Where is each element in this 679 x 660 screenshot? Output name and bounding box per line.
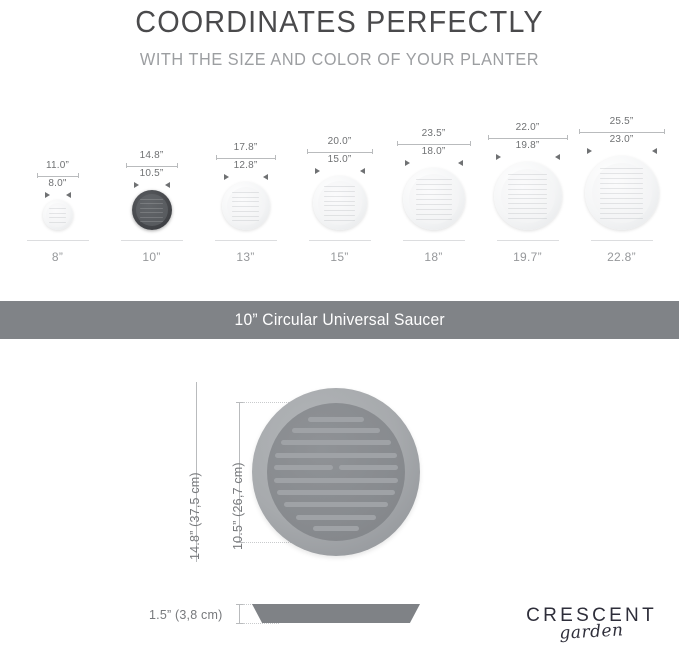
header: COORDINATES PERFECTLY WITH THE SIZE AND … (0, 0, 679, 70)
saucer-thumbnail (585, 156, 659, 230)
saucer-slat (416, 189, 452, 190)
saucer-slat (232, 206, 259, 207)
inner-dimension-arrows (496, 153, 560, 160)
outer-dimension-label: 17.8” (234, 142, 258, 153)
outer-dimension-line (397, 141, 471, 146)
product-banner-title: 10” Circular Universal Saucer (234, 311, 444, 330)
size-option-15[interactable]: 20.0”15.0”15” (293, 104, 387, 264)
saucer-slat (600, 208, 643, 209)
outer-height-label: 14.8” (37,5 cm) (188, 472, 202, 560)
page-subtitle: WITH THE SIZE AND COLOR OF YOUR PLANTER (24, 49, 655, 70)
saucer-well (46, 203, 70, 227)
size-option-19.7[interactable]: 22.0”19.8”19.7” (481, 104, 575, 264)
saucer-slat (416, 194, 452, 195)
inner-dimension-arrows (315, 167, 365, 174)
saucer-slat (508, 174, 547, 175)
inner-dimension-arrows (405, 159, 463, 166)
size-divider (309, 240, 371, 241)
arrow-right-icon (134, 182, 139, 188)
saucer-well (267, 403, 405, 541)
saucer-slat (416, 179, 452, 180)
arrow-left-icon (652, 148, 657, 154)
inner-dimension: 10.5” (105, 168, 199, 188)
inner-dimension: 23.0” (575, 134, 669, 154)
inner-dimension: 8.0" (11, 178, 105, 198)
saucer-slat (274, 465, 333, 470)
arrow-right-icon (405, 160, 410, 166)
saucer-slat (308, 417, 364, 422)
saucer-slat (232, 220, 259, 221)
arrow-left-icon (165, 182, 170, 188)
saucer-thumbnail (494, 162, 562, 230)
size-option-18[interactable]: 23.5”18.0”18” (387, 104, 481, 264)
saucer-well (501, 169, 555, 223)
saucer-thumbnail (313, 176, 367, 230)
saucer-slat (508, 179, 547, 180)
saucer-slat (140, 221, 163, 222)
outer-dimension-line (37, 173, 79, 178)
size-label: 13” (236, 250, 254, 264)
saucer-slat (600, 183, 643, 184)
size-divider (403, 240, 465, 241)
profile-height-label: 1.5” (3,8 cm) (149, 608, 222, 622)
inner-dimension-arrows (134, 181, 170, 188)
saucer-slat (508, 208, 547, 209)
product-spec-sheet: COORDINATES PERFECTLY WITH THE SIZE AND … (0, 0, 679, 660)
size-option-22.8[interactable]: 25.5”23.0”22.8” (575, 104, 669, 264)
outer-dimension: 14.8” (105, 150, 199, 168)
saucer-slat (416, 209, 452, 210)
inner-dimension-arrows (587, 147, 657, 154)
saucer-slat (324, 210, 356, 211)
arrow-left-icon (360, 168, 365, 174)
size-option-10[interactable]: 14.8”10.5”10” (105, 104, 199, 264)
saucer-slat (600, 173, 643, 174)
outer-dimension: 20.0” (293, 136, 387, 154)
outer-dimension-line (307, 149, 373, 154)
saucer-slat (284, 502, 388, 507)
inner-height-cap-top (236, 402, 243, 403)
saucer-slat (49, 213, 66, 214)
outer-dimension-line (216, 155, 276, 160)
saucer-thumbnail (132, 190, 172, 230)
saucer-well (136, 194, 168, 226)
size-label: 18” (424, 250, 442, 264)
size-option-13[interactable]: 17.8”12.8”13” (199, 104, 293, 264)
inner-dimension: 15.0” (293, 154, 387, 174)
saucer-well (227, 187, 265, 225)
size-divider (121, 240, 183, 241)
saucer-well (592, 163, 652, 223)
saucer-slat (140, 217, 163, 218)
saucer-slat (324, 191, 356, 192)
outer-dimension: 23.5” (387, 128, 481, 146)
size-label-group: 19.7” (481, 240, 575, 264)
saucer-side-profile (252, 604, 420, 623)
outer-dimension-label: 22.0” (516, 122, 540, 133)
inner-dimension-label: 10.5” (140, 168, 164, 179)
saucer-slat (324, 220, 356, 221)
arrow-left-icon (555, 154, 560, 160)
arrow-right-icon (496, 154, 501, 160)
outer-dimension-line (126, 163, 178, 168)
saucer-slat (508, 213, 547, 214)
outer-dimension: 25.5” (575, 116, 669, 134)
outer-dimension-label: 14.8” (140, 150, 164, 161)
outer-dimension-label: 25.5” (610, 116, 634, 127)
inner-dimension-label: 23.0” (610, 134, 634, 145)
size-label-group: 13” (199, 240, 293, 264)
arrow-left-icon (263, 174, 268, 180)
size-divider (591, 240, 653, 241)
saucer-slat (324, 201, 356, 202)
product-banner: 10” Circular Universal Saucer (0, 301, 679, 339)
saucer-slat (600, 213, 643, 214)
page-title: COORDINATES PERFECTLY (24, 4, 655, 40)
saucer-slat (416, 214, 452, 215)
brand-logo: CRESCENT garden (526, 605, 657, 642)
saucer-slat (313, 526, 359, 531)
arrow-left-icon (66, 192, 71, 198)
saucer-slat (416, 184, 452, 185)
inner-dimension-label: 8.0" (48, 178, 66, 189)
saucer-slat (508, 189, 547, 190)
outer-dimension: 11.0” (11, 160, 105, 178)
size-label: 22.8” (607, 250, 636, 264)
saucer-slat (339, 465, 398, 470)
saucer-slat (49, 208, 66, 209)
profile-leader-bottom (243, 623, 279, 624)
inner-dimension: 18.0” (387, 146, 481, 166)
saucer-slat (324, 205, 356, 206)
saucer-slat (49, 217, 66, 218)
size-label-group: 22.8” (575, 240, 669, 264)
saucer-slat (274, 478, 398, 483)
inner-dimension: 19.8” (481, 140, 575, 160)
saucer-slat (600, 193, 643, 194)
size-label: 10” (142, 250, 160, 264)
inner-dimension-label: 12.8” (234, 160, 258, 171)
inner-height-label: 10.5” (26,7 cm) (231, 462, 245, 550)
saucer-slat (600, 203, 643, 204)
arrow-right-icon (315, 168, 320, 174)
saucer-slat (232, 192, 259, 193)
saucer-slat (140, 208, 163, 209)
saucer-slat (232, 197, 259, 198)
saucer-slat (324, 215, 356, 216)
arrow-left-icon (458, 160, 463, 166)
saucer-slat (600, 178, 643, 179)
saucer-slat (281, 440, 391, 445)
outer-dimension: 22.0” (481, 122, 575, 140)
size-comparison-row: 11.0”8.0"8”14.8”10.5”10”17.8”12.8”13”20.… (0, 104, 679, 264)
inner-dimension: 12.8” (199, 160, 293, 180)
size-label-group: 18” (387, 240, 481, 264)
saucer-slat (232, 216, 259, 217)
saucer-slat (508, 184, 547, 185)
outer-dimension-label: 11.0” (46, 160, 69, 171)
saucer-slat (416, 204, 452, 205)
saucer-top-view (252, 388, 420, 556)
saucer-slat (508, 203, 547, 204)
saucer-slat (600, 218, 643, 219)
saucer-thumbnail (43, 200, 73, 230)
saucer-slat (324, 186, 356, 187)
size-divider (27, 240, 89, 241)
profile-cap-bottom (236, 623, 243, 624)
outer-dimension-label: 23.5” (422, 128, 446, 139)
saucer-slat (296, 515, 376, 520)
saucer-well (409, 174, 459, 224)
inner-dimension-label: 15.0” (328, 154, 352, 165)
size-label-group: 8” (11, 240, 105, 264)
saucer-slat (232, 201, 259, 202)
size-option-8[interactable]: 11.0”8.0"8” (11, 104, 105, 264)
outer-dimension-line (488, 135, 568, 140)
saucer-slat (277, 490, 395, 495)
saucer-slat (140, 212, 163, 213)
inner-dimension-label: 18.0” (422, 146, 446, 157)
outer-dimension: 17.8” (199, 142, 293, 160)
size-divider (497, 240, 559, 241)
main-diagram: 14.8” (37,5 cm) 10.5” (26,7 cm) (0, 360, 679, 570)
inner-dimension-arrows (224, 173, 268, 180)
saucer-slat (508, 194, 547, 195)
profile-cap-top (236, 604, 243, 605)
saucer-slat (292, 428, 380, 433)
arrow-right-icon (224, 174, 229, 180)
saucer-slat (600, 198, 643, 199)
saucer-slat (49, 222, 66, 223)
size-label: 19.7” (513, 250, 542, 264)
saucer-slat (140, 199, 163, 200)
saucer-slat (275, 453, 397, 458)
inner-dimension-arrows (45, 191, 71, 198)
size-label-group: 15” (293, 240, 387, 264)
saucer-slat (600, 168, 643, 169)
saucer-well (318, 181, 362, 225)
inner-dimension-label: 19.8” (516, 140, 540, 151)
saucer-slat (416, 219, 452, 220)
size-label-group: 10” (105, 240, 199, 264)
size-label: 8” (52, 250, 63, 264)
saucer-slat (600, 188, 643, 189)
size-divider (215, 240, 277, 241)
outer-dimension-line (579, 129, 665, 134)
saucer-slat (324, 196, 356, 197)
size-label: 15” (330, 250, 348, 264)
saucer-thumbnail (222, 182, 270, 230)
arrow-right-icon (587, 148, 592, 154)
saucer-slat (232, 211, 259, 212)
arrow-right-icon (45, 192, 50, 198)
saucer-slat (416, 199, 452, 200)
outer-dimension-label: 20.0” (328, 136, 352, 147)
saucer-thumbnail (403, 168, 465, 230)
saucer-slat (508, 198, 547, 199)
saucer-slat (140, 203, 163, 204)
saucer-slat (508, 218, 547, 219)
profile-height-line (239, 604, 240, 623)
